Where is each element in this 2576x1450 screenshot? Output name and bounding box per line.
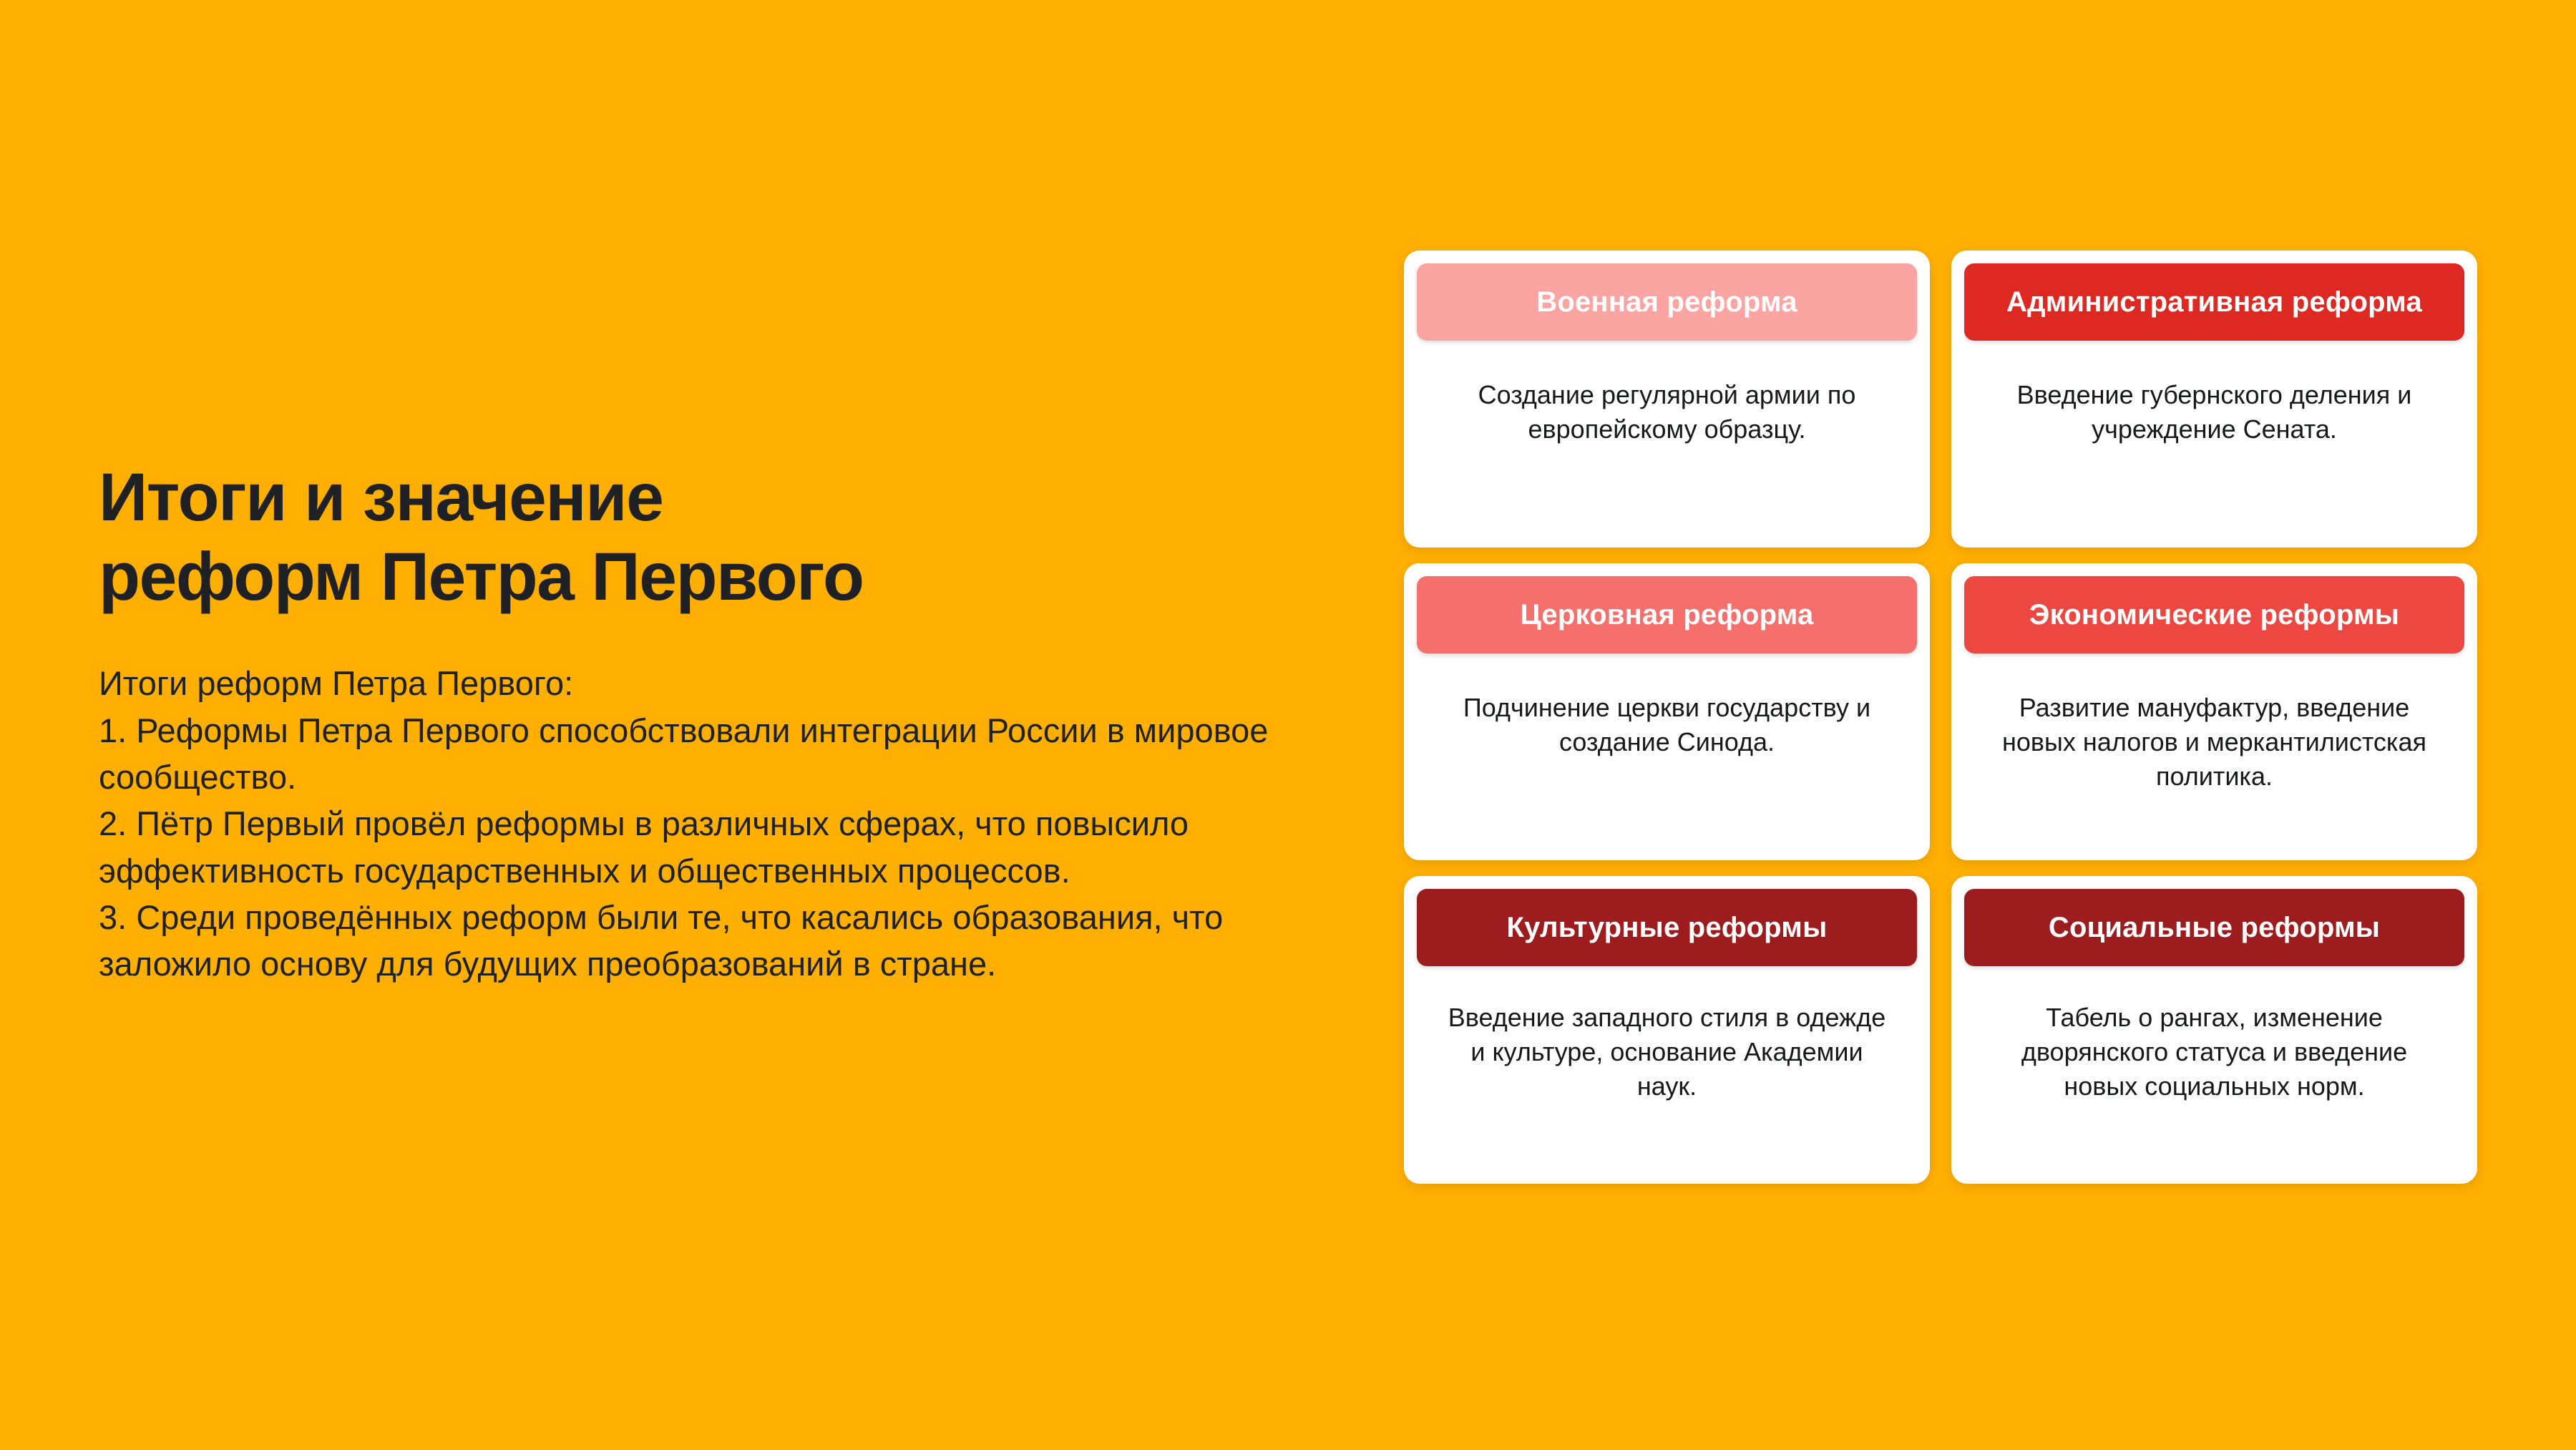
reform-card[interactable]: Культурные реформы Введение западного ст… <box>1404 876 1930 1184</box>
reform-card[interactable]: Административная реформа Введение губерн… <box>1951 250 2477 548</box>
reform-card-description: Введение западного стиля в одежде и куль… <box>1417 966 1917 1169</box>
reform-card-title: Военная реформа <box>1417 263 1917 341</box>
page-body-text: Итоги реформ Петра Первого: 1. Реформы П… <box>99 660 1272 987</box>
reform-card-description: Развитие мануфактур, введение новых нало… <box>1964 653 2464 846</box>
reform-card-title: Экономические реформы <box>1964 576 2464 653</box>
reform-card[interactable]: Церковная реформа Подчинение церкви госу… <box>1404 563 1930 860</box>
reform-cards-grid: Военная реформа Создание регулярной арми… <box>1404 250 2477 1184</box>
reform-card[interactable]: Военная реформа Создание регулярной арми… <box>1404 250 1930 548</box>
reform-card-description: Подчинение церкви государству и создание… <box>1417 653 1917 846</box>
reform-card-title: Церковная реформа <box>1417 576 1917 653</box>
reform-card-title: Административная реформа <box>1964 263 2464 341</box>
reform-card-description: Создание регулярной армии по европейском… <box>1417 341 1917 533</box>
reform-card-title: Культурные реформы <box>1417 889 1917 966</box>
reform-card[interactable]: Экономические реформы Развитие мануфакту… <box>1951 563 2477 860</box>
slide-root: Итоги и значение реформ Петра Первого Ит… <box>0 0 2576 1450</box>
reform-card-description: Табель о рангах, изменение дворянского с… <box>1964 966 2464 1169</box>
reform-card-title: Социальные реформы <box>1964 889 2464 966</box>
left-text-panel: Итоги и значение реформ Петра Первого Ит… <box>99 458 1272 988</box>
page-title: Итоги и значение реформ Петра Первого <box>99 458 1272 617</box>
reform-card-description: Введение губернского деления и учреждени… <box>1964 341 2464 533</box>
reform-card[interactable]: Социальные реформы Табель о рангах, изме… <box>1951 876 2477 1184</box>
